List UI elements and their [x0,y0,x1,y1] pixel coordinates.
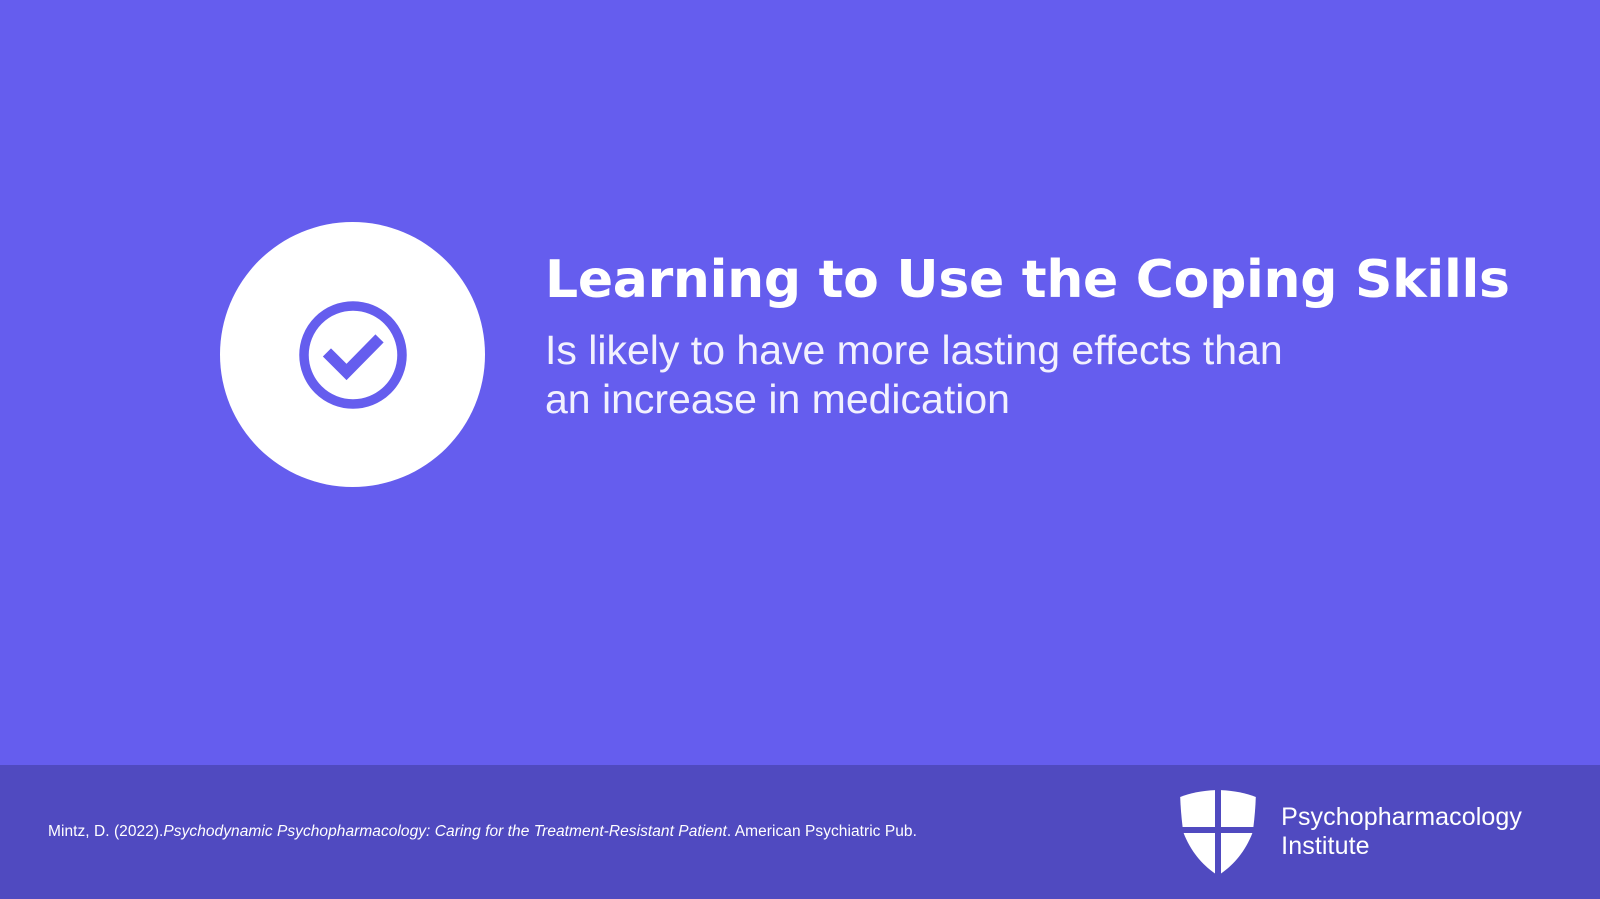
check-circle-icon [295,297,411,413]
slide-footer: Mintz, D. (2022). Psychodynamic Psychoph… [0,765,1600,899]
brand-line-1: Psychopharmacology [1281,803,1522,832]
slide-root: Learning to Use the Coping Skills Is lik… [0,0,1600,899]
page-title: Learning to Use the Coping Skills [545,252,1545,308]
shield-logo-icon [1177,789,1259,875]
brand-line-2: Institute [1281,832,1522,861]
citation-prefix: Mintz, D. (2022). [48,822,163,842]
brand-wordmark: Psychopharmacology Institute [1281,803,1522,861]
slide-body: Learning to Use the Coping Skills Is lik… [0,0,1600,765]
check-circle-badge [220,222,485,487]
citation-text: Mintz, D. (2022). Psychodynamic Psychoph… [48,765,917,899]
slide-subtitle: Is likely to have more lasting effects t… [545,326,1335,424]
citation-work-title: Psychodynamic Psychopharmacology: Caring… [163,822,727,842]
slide-text-block: Learning to Use the Coping Skills Is lik… [545,252,1545,424]
citation-suffix: . American Psychiatric Pub. [727,822,917,842]
brand-logo: Psychopharmacology Institute [1177,765,1522,899]
